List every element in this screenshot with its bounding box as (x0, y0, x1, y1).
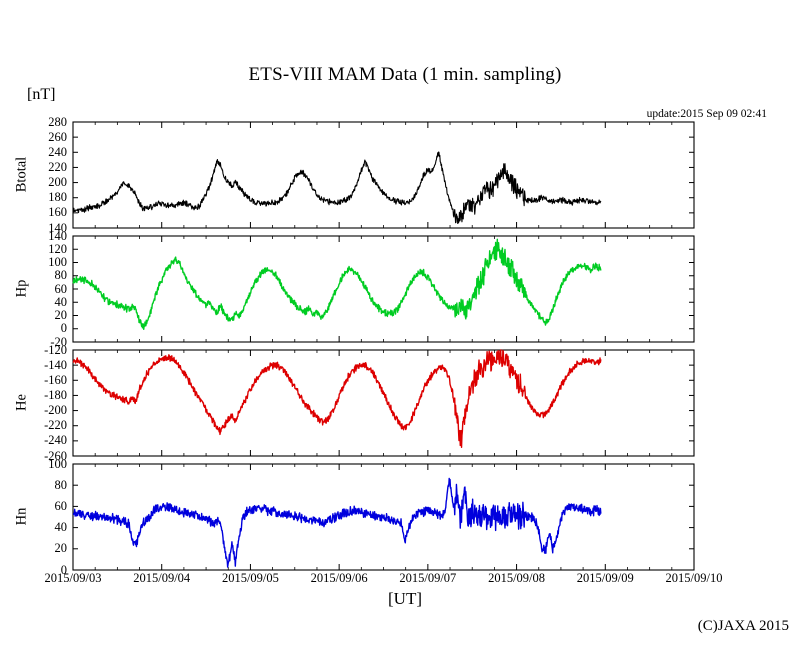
y-tick-label: 40 (27, 521, 67, 534)
chart-canvas: ETS-VIII MAM Data (1 min. sampling) [nT]… (0, 0, 810, 655)
data-trace-hn (73, 478, 601, 567)
panel-plot-hn (0, 0, 810, 655)
copyright-notice: (C)JAXA 2015 (0, 618, 789, 635)
panel-axis-title-hn: Hn (14, 477, 31, 557)
y-tick-label: 20 (27, 542, 67, 555)
x-tick-label: 2015/09/10 (639, 572, 749, 585)
y-tick-label: 80 (27, 479, 67, 492)
y-tick-label: 60 (27, 500, 67, 513)
y-tick-label: 100 (27, 458, 67, 471)
x-axis-label: [UT] (0, 589, 810, 609)
